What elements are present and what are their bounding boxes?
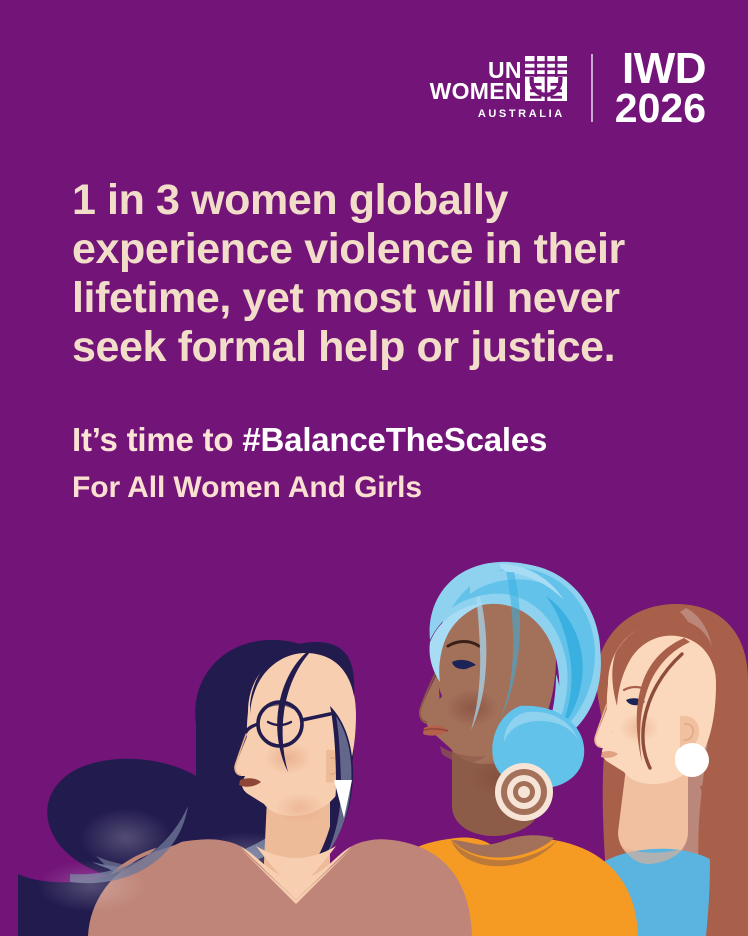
un-women-wordmark-row: UN WOMEN <box>430 56 567 102</box>
figure-left <box>18 640 472 936</box>
headline-line-2: experience violence in their <box>72 225 625 273</box>
hoop-earring-icon <box>495 763 553 821</box>
three-women-illustration <box>0 556 748 936</box>
iwd-logo-year: 2026 <box>615 90 706 126</box>
iwd-2026-poster: UN WOMEN <box>0 0 748 936</box>
subtagline: For All Women And Girls <box>72 470 702 506</box>
headline-line-4: seek formal help or justice. <box>72 323 615 371</box>
headline-line-3: lifetime, yet most will never <box>72 274 620 322</box>
tagline: It’s time to #BalanceTheScales <box>72 420 702 460</box>
headline: 1 in 3 women globally experience violenc… <box>72 176 702 372</box>
un-women-logo-country: AUSTRALIA <box>478 108 565 120</box>
iwd-logo: IWD 2026 <box>615 50 706 127</box>
logo-lockup: UN WOMEN <box>430 52 706 124</box>
copy-block: 1 in 3 women globally experience violenc… <box>72 176 702 506</box>
tagline-group: It’s time to #BalanceTheScales For All W… <box>72 420 702 506</box>
un-women-australia-logo: UN WOMEN <box>430 56 567 120</box>
iwd-logo-word: IWD <box>622 50 706 89</box>
logo-divider <box>591 54 593 122</box>
headline-line-1: 1 in 3 women globally <box>72 176 508 224</box>
campaign-hashtag: #BalanceTheScales <box>242 421 547 458</box>
tagline-prefix: It’s time to <box>72 421 242 458</box>
un-women-emblem-icon <box>525 56 567 101</box>
un-women-logo-line2: WOMEN <box>430 81 522 102</box>
un-women-wordmark: UN WOMEN <box>430 60 522 102</box>
